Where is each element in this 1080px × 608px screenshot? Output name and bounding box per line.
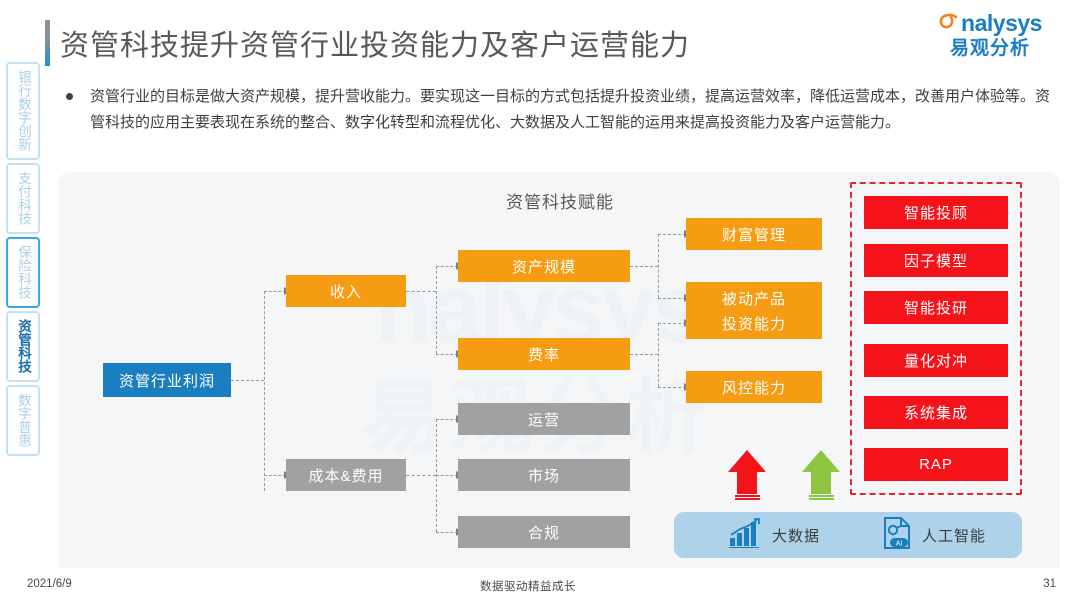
- node-label: 智能投研: [904, 297, 968, 318]
- node-label: 费率: [528, 344, 560, 365]
- node-smart-advisory[interactable]: 智能投顾: [864, 196, 1008, 229]
- node-factor-model[interactable]: 因子模型: [864, 244, 1008, 277]
- logo-wordmark: nalysys: [961, 11, 1042, 35]
- connector-fee-rate-vertical: [658, 323, 659, 387]
- connector-fee-rate-out: [630, 354, 658, 355]
- footer-slogan: 数据驱动精益成长: [480, 578, 576, 594]
- bullet-text: 资管行业的目标是做大资产规模，提升营收能力。要实现这一目标的方式包括提升投资业绩…: [90, 84, 1050, 136]
- node-fee-rate[interactable]: 费率: [458, 338, 630, 370]
- node-label: 收入: [330, 281, 362, 302]
- connector-asset-scale-vertical: [658, 234, 659, 298]
- node-smart-research[interactable]: 智能投研: [864, 291, 1008, 324]
- footer: 2021/6/9 数据驱动精益成长 31: [0, 576, 1080, 606]
- logo-chinese-name: 易观分析: [920, 37, 1060, 61]
- connector-asset-scale-out: [630, 266, 658, 267]
- node-label: 合规: [528, 522, 560, 543]
- sidebar-item-payment-tech[interactable]: 支付科技: [6, 163, 40, 234]
- sidebar-item-digital-inclusive-finance[interactable]: 数字普惠: [6, 385, 40, 456]
- svg-text:AI: AI: [896, 540, 903, 547]
- node-compliance[interactable]: 合规: [458, 516, 630, 548]
- node-label: 量化对冲: [904, 350, 968, 371]
- node-asset-mgmt-industry-profit[interactable]: 资管行业利润: [103, 363, 231, 397]
- bar-chart-icon: [728, 518, 762, 553]
- red-up-arrow-icon: [728, 450, 766, 500]
- node-rap[interactable]: RAP: [864, 448, 1008, 481]
- connector-to-asset-scale: [436, 266, 458, 267]
- node-label: 市场: [528, 465, 560, 486]
- connector-to-market: [436, 475, 458, 476]
- node-quantitative-hedging[interactable]: 量化对冲: [864, 344, 1008, 377]
- sidebar-item-label: 资管科技: [15, 319, 31, 373]
- node-system-integration[interactable]: 系统集成: [864, 396, 1008, 429]
- node-investment-capability[interactable]: 投资能力: [686, 307, 822, 339]
- logo-swirl-icon: [938, 12, 960, 34]
- node-label: 资管行业利润: [119, 370, 215, 391]
- node-label: 系统集成: [904, 402, 968, 423]
- green-up-arrow-icon: [802, 450, 840, 500]
- node-label: 投资能力: [722, 313, 786, 334]
- sidebar: 银行数字创新 支付科技 保险科技 资管科技 数字普惠: [6, 62, 42, 459]
- connector-to-compliance: [436, 532, 458, 533]
- sidebar-item-label: 支付科技: [15, 171, 31, 225]
- node-wealth-management[interactable]: 财富管理: [686, 218, 822, 250]
- node-risk-control-capability[interactable]: 风控能力: [686, 371, 822, 403]
- tech-label: 人工智能: [922, 525, 986, 546]
- node-label: 资产规模: [512, 256, 576, 277]
- page-title: 资管科技提升资管行业投资能力及客户运营能力: [60, 22, 690, 64]
- diagram-card: nalysys 易观分析 资管科技赋能: [58, 172, 1060, 568]
- connector-root-vertical: [264, 291, 265, 491]
- node-label: 财富管理: [722, 224, 786, 245]
- node-label: 智能投顾: [904, 202, 968, 223]
- connector-root-out: [231, 380, 264, 381]
- node-label: 风控能力: [722, 377, 786, 398]
- sidebar-item-insurance-tech[interactable]: 保险科技: [6, 237, 40, 308]
- sidebar-item-asset-management-tech[interactable]: 资管科技: [6, 311, 40, 382]
- node-operation[interactable]: 运营: [458, 403, 630, 435]
- node-label: 被动产品: [722, 288, 786, 309]
- connector-to-fee-rate: [436, 354, 458, 355]
- connector-to-passive-product: [658, 298, 686, 299]
- node-label: 成本&费用: [308, 465, 383, 486]
- analysys-logo: nalysys 易观分析: [920, 10, 1060, 62]
- connector-cost-out: [406, 475, 436, 476]
- connector-to-wealth-mgmt: [658, 234, 686, 235]
- connector-to-risk-control: [658, 387, 686, 388]
- node-income[interactable]: 收入: [286, 275, 406, 307]
- enabling-technology-bar: 大数据 AI 人工智能: [674, 512, 1022, 558]
- node-label: RAP: [919, 456, 953, 473]
- node-market[interactable]: 市场: [458, 459, 630, 491]
- tech-label: 大数据: [772, 525, 820, 546]
- sidebar-item-label: 保险科技: [15, 245, 31, 299]
- slide-page: 资管科技提升资管行业投资能力及客户运营能力 nalysys 易观分析 银行数字创…: [0, 0, 1080, 608]
- node-label: 因子模型: [904, 250, 968, 271]
- node-label: 运营: [528, 409, 560, 430]
- tech-item-big-data[interactable]: 大数据: [728, 518, 820, 553]
- sidebar-item-label: 银行数字创新: [15, 70, 31, 151]
- node-asset-scale[interactable]: 资产规模: [458, 250, 630, 282]
- connector-to-operation: [436, 419, 458, 420]
- connector-to-income: [264, 291, 286, 292]
- bullet-dot-icon: [66, 93, 73, 100]
- sidebar-item-bank-digital-innovation[interactable]: 银行数字创新: [6, 62, 40, 160]
- diagram-title: 资管科技赋能: [506, 188, 614, 213]
- ai-document-icon: AI: [882, 516, 912, 555]
- connector-to-cost: [264, 475, 286, 476]
- footer-date: 2021/6/9: [27, 578, 72, 590]
- title-accent-bar: [45, 20, 50, 66]
- connector-income-out: [406, 291, 436, 292]
- footer-page-number: 31: [1043, 578, 1056, 590]
- connector-income-vertical: [436, 266, 437, 354]
- bullet-paragraph: 资管行业的目标是做大资产规模，提升营收能力。要实现这一目标的方式包括提升投资业绩…: [62, 84, 1062, 136]
- node-cost-and-expense[interactable]: 成本&费用: [286, 459, 406, 491]
- connector-to-investment-ability: [658, 323, 686, 324]
- tech-item-artificial-intelligence[interactable]: AI 人工智能: [882, 516, 986, 555]
- sidebar-item-label: 数字普惠: [15, 393, 31, 447]
